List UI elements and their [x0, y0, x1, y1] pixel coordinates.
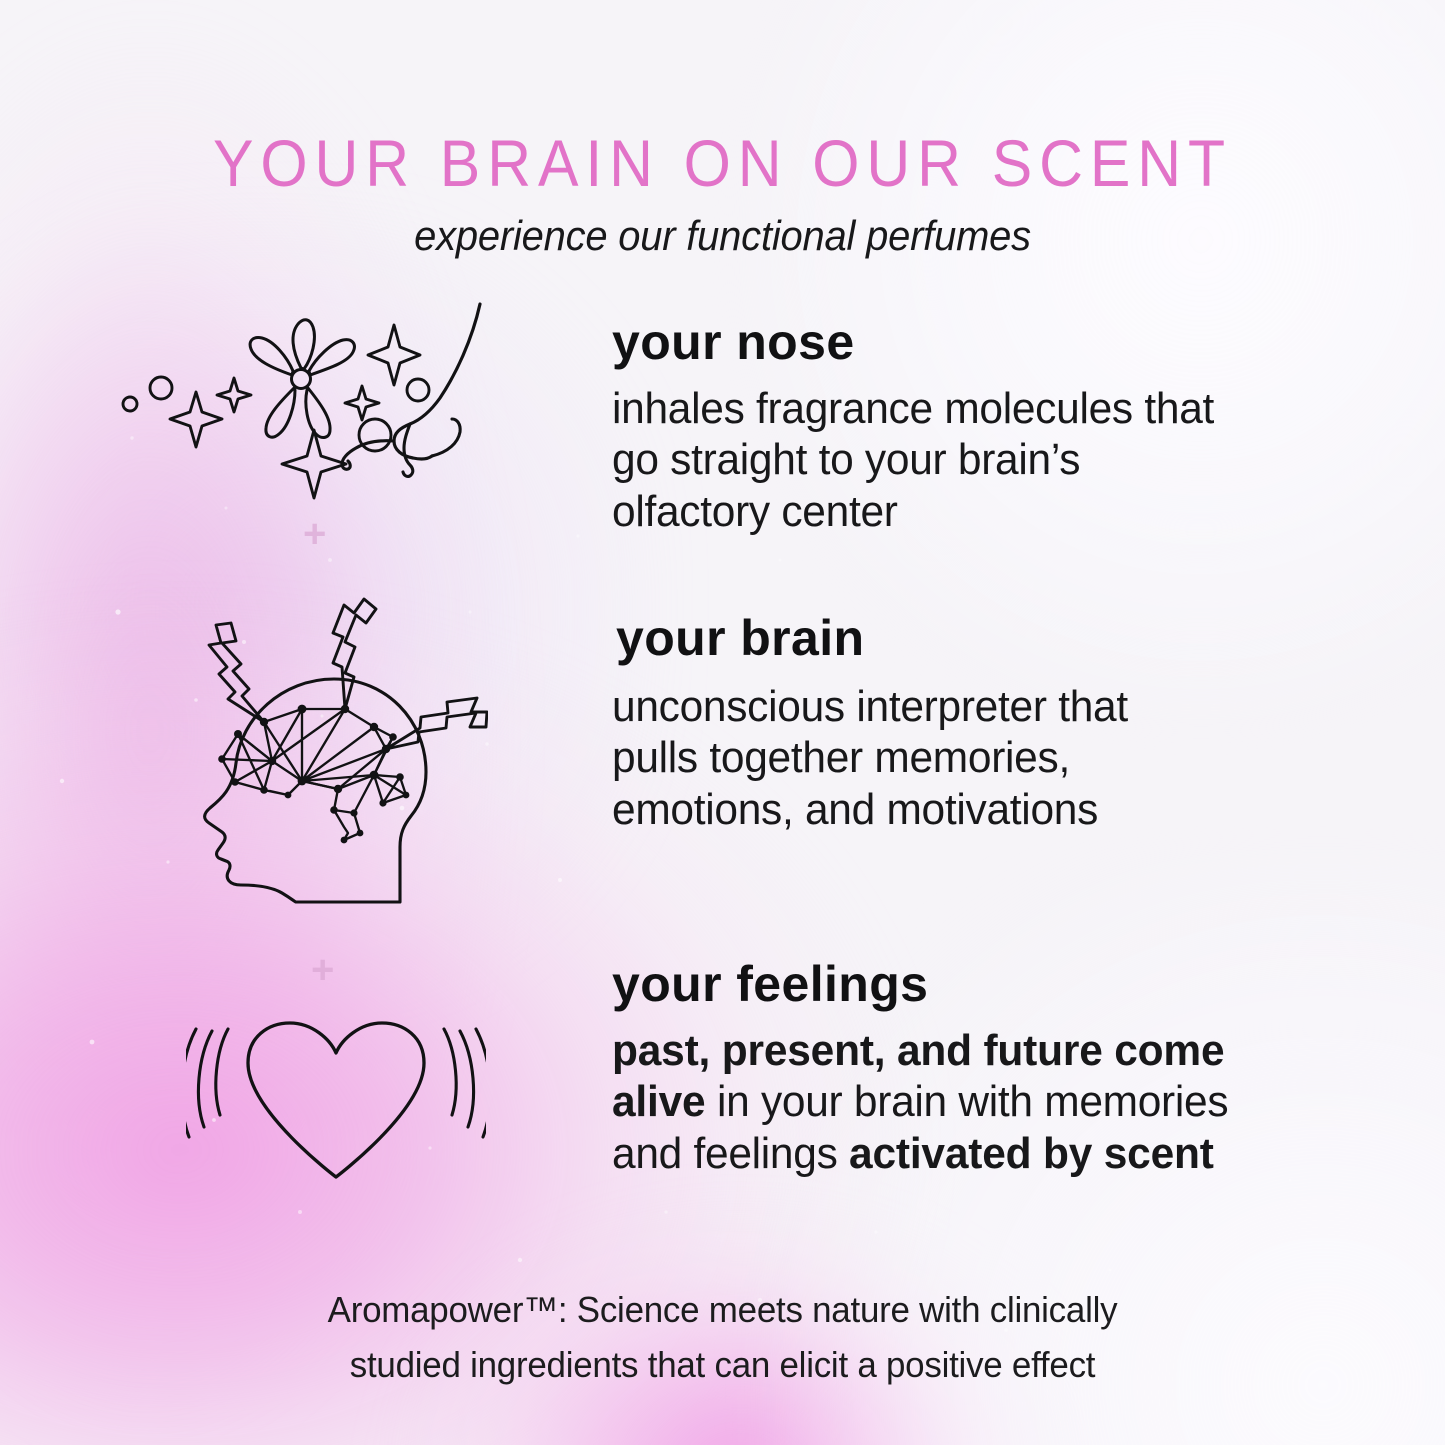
footer-line-2: studied ingredients that can elicit a po… — [22, 1338, 1424, 1393]
nose-with-fragrance-molecules-icon — [104, 300, 574, 500]
body-line: emotions, and motivations — [612, 784, 1291, 835]
body-emphasis: activated by scent — [849, 1129, 1214, 1178]
beating-heart-icon — [186, 995, 486, 1185]
body-line: and feelings activated by scent — [612, 1128, 1365, 1179]
footer-disclaimer: Aromapower™: Science meets nature with c… — [0, 1283, 1445, 1392]
body-line: unconscious interpreter that — [612, 681, 1291, 732]
step-brain-body: unconscious interpreter that pulls toget… — [612, 681, 1291, 835]
step-nose-heading: your nose — [612, 316, 1372, 369]
footer-line-1: Aromapower™: Science meets nature with c… — [22, 1283, 1424, 1338]
step-feelings-heading: your feelings — [612, 958, 1392, 1011]
head-with-neural-network-brain-icon — [178, 585, 488, 930]
body-line: alive in your brain with memories — [612, 1076, 1365, 1127]
page-subtitle: experience our functional perfumes — [36, 212, 1409, 260]
promo-graphic-canvas: YOUR BRAIN ON OUR SCENT experience our f… — [0, 0, 1445, 1445]
body-emphasis: past, present, and future come — [612, 1026, 1224, 1075]
step-feelings-body: past, present, and future come alive in … — [612, 1025, 1365, 1179]
plus-separator-2: + — [311, 950, 334, 990]
body-line: go straight to your brain’s — [612, 434, 1345, 485]
step-nose-body: inhales fragrance molecules that go stra… — [612, 383, 1345, 537]
body-emphasis: alive — [612, 1077, 705, 1126]
step-nose-text: your nose inhales fragrance molecules th… — [612, 316, 1372, 537]
body-line: inhales fragrance molecules that — [612, 383, 1345, 434]
body-line: pulls together memories, — [612, 732, 1291, 783]
plus-separator-1: + — [303, 514, 326, 554]
body-text: in your brain with memories — [705, 1077, 1228, 1126]
step-feelings-text: your feelings past, present, and future … — [612, 958, 1392, 1179]
body-line: past, present, and future come — [612, 1025, 1365, 1076]
body-text: and feelings — [612, 1129, 849, 1178]
body-line: olfactory center — [612, 486, 1345, 537]
page-title: YOUR BRAIN ON OUR SCENT — [58, 125, 1387, 201]
step-brain-text: your brain unconscious interpreter that … — [616, 612, 1316, 835]
step-brain-heading: your brain — [616, 612, 1316, 665]
